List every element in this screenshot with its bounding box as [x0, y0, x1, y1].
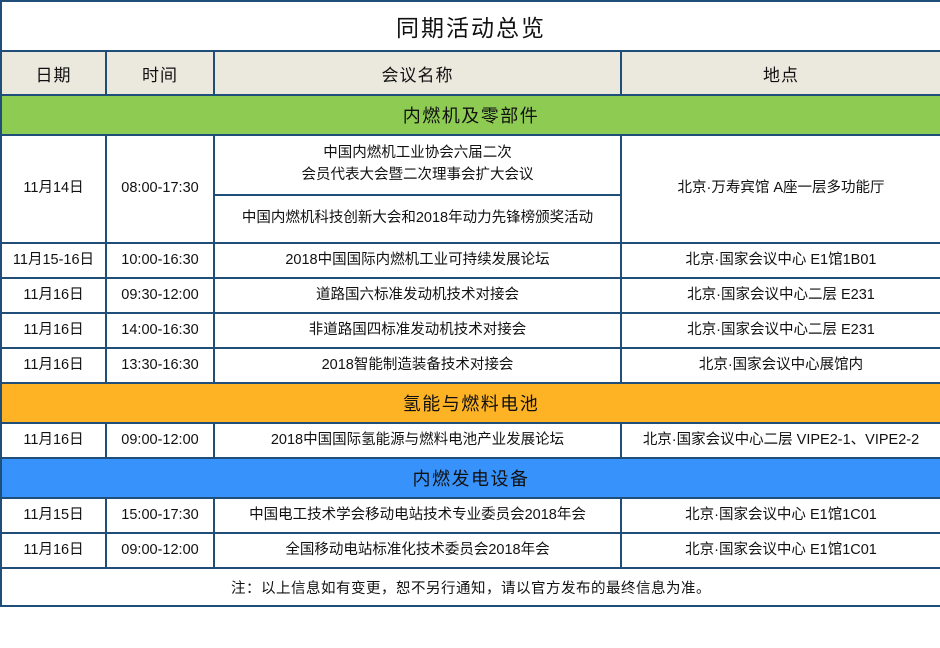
cell-time: 08:00-17:30 [106, 135, 214, 243]
cell-time: 15:00-17:30 [106, 498, 214, 533]
column-header-name: 会议名称 [214, 51, 621, 95]
page-title: 同期活动总览 [1, 1, 940, 51]
section-band-row: 内燃发电设备 [1, 458, 940, 498]
event-schedule-table: 同期活动总览 日期 时间 会议名称 地点 内燃机及零部件 11月14日 08:0… [0, 0, 940, 607]
column-header-venue: 地点 [621, 51, 940, 95]
meeting-name-line: 会员代表大会暨二次理事会扩大会议 [221, 165, 614, 187]
cell-venue: 北京·国家会议中心二层 E231 [621, 313, 940, 348]
cell-time: 09:00-12:00 [106, 423, 214, 458]
nested-row: 中国内燃机科技创新大会和2018年动力先锋榜颁奖活动 [215, 195, 620, 242]
nested-cell: 中国内燃机工业协会六届二次 会员代表大会暨二次理事会扩大会议 [215, 136, 620, 195]
cell-date: 11月16日 [1, 278, 106, 313]
cell-venue: 北京·国家会议中心展馆内 [621, 348, 940, 383]
nested-row: 中国内燃机工业协会六届二次 会员代表大会暨二次理事会扩大会议 [215, 136, 620, 195]
title-row: 同期活动总览 [1, 1, 940, 51]
nested-cell: 中国内燃机科技创新大会和2018年动力先锋榜颁奖活动 [215, 195, 620, 242]
cell-date: 11月16日 [1, 313, 106, 348]
cell-venue: 北京·国家会议中心二层 E231 [621, 278, 940, 313]
table-row: 11月16日 13:30-16:30 2018智能制造装备技术对接会 北京·国家… [1, 348, 940, 383]
section-band-label: 氢能与燃料电池 [1, 383, 940, 423]
cell-venue: 北京·国家会议中心 E1馆1B01 [621, 243, 940, 278]
cell-venue: 北京·万寿宾馆 A座一层多功能厅 [621, 135, 940, 243]
cell-venue: 北京·国家会议中心 E1馆1C01 [621, 498, 940, 533]
cell-name: 非道路国四标准发动机技术对接会 [214, 313, 621, 348]
cell-name: 道路国六标准发动机技术对接会 [214, 278, 621, 313]
cell-name: 2018中国国际氢能源与燃料电池产业发展论坛 [214, 423, 621, 458]
cell-venue: 北京·国家会议中心二层 VIPE2-1、VIPE2-2 [621, 423, 940, 458]
table-row: 11月16日 14:00-16:30 非道路国四标准发动机技术对接会 北京·国家… [1, 313, 940, 348]
cell-date: 11月14日 [1, 135, 106, 243]
section-band-label: 内燃发电设备 [1, 458, 940, 498]
cell-date: 11月16日 [1, 423, 106, 458]
cell-time: 09:30-12:00 [106, 278, 214, 313]
cell-time: 14:00-16:30 [106, 313, 214, 348]
nested-meeting-table: 中国内燃机工业协会六届二次 会员代表大会暨二次理事会扩大会议 中国内燃机科技创新… [215, 136, 620, 242]
cell-date: 11月16日 [1, 533, 106, 568]
cell-name: 中国电工技术学会移动电站技术专业委员会2018年会 [214, 498, 621, 533]
footer-note-row: 注：以上信息如有变更，恕不另行通知，请以官方发布的最终信息为准。 [1, 568, 940, 606]
column-header-time: 时间 [106, 51, 214, 95]
cell-time: 10:00-16:30 [106, 243, 214, 278]
table-row: 11月14日 08:00-17:30 中国内燃机工业协会六届二次 会员代表大会暨… [1, 135, 940, 243]
footer-note: 注：以上信息如有变更，恕不另行通知，请以官方发布的最终信息为准。 [1, 568, 940, 606]
cell-date: 11月16日 [1, 348, 106, 383]
section-band-row: 氢能与燃料电池 [1, 383, 940, 423]
meeting-name-line: 中国内燃机工业协会六届二次 [221, 143, 614, 165]
cell-date: 11月15日 [1, 498, 106, 533]
table-row: 11月16日 09:30-12:00 道路国六标准发动机技术对接会 北京·国家会… [1, 278, 940, 313]
section-band-row: 内燃机及零部件 [1, 95, 940, 135]
column-header-row: 日期 时间 会议名称 地点 [1, 51, 940, 95]
cell-name: 2018中国国际内燃机工业可持续发展论坛 [214, 243, 621, 278]
table-row: 11月16日 09:00-12:00 全国移动电站标准化技术委员会2018年会 … [1, 533, 940, 568]
column-header-date: 日期 [1, 51, 106, 95]
cell-venue: 北京·国家会议中心 E1馆1C01 [621, 533, 940, 568]
table-row: 11月15-16日 10:00-16:30 2018中国国际内燃机工业可持续发展… [1, 243, 940, 278]
cell-name-split: 中国内燃机工业协会六届二次 会员代表大会暨二次理事会扩大会议 中国内燃机科技创新… [214, 135, 621, 243]
cell-name: 全国移动电站标准化技术委员会2018年会 [214, 533, 621, 568]
cell-date: 11月15-16日 [1, 243, 106, 278]
cell-time: 09:00-12:00 [106, 533, 214, 568]
table-row: 11月15日 15:00-17:30 中国电工技术学会移动电站技术专业委员会20… [1, 498, 940, 533]
section-band-label: 内燃机及零部件 [1, 95, 940, 135]
cell-name: 2018智能制造装备技术对接会 [214, 348, 621, 383]
cell-time: 13:30-16:30 [106, 348, 214, 383]
table-row: 11月16日 09:00-12:00 2018中国国际氢能源与燃料电池产业发展论… [1, 423, 940, 458]
